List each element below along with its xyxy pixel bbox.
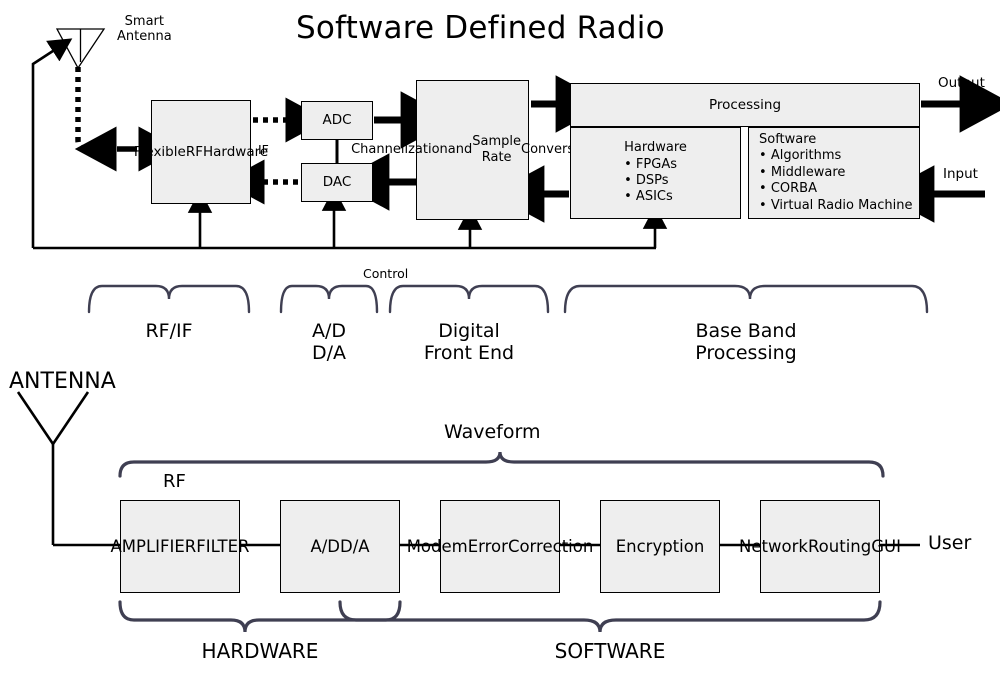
software-item-0: • Algorithms (759, 148, 913, 164)
rf-label: RF (163, 471, 186, 492)
top-brace-group (89, 286, 927, 312)
hardware-item-0: • FPGAs (624, 157, 687, 173)
brace-software (340, 602, 880, 632)
control-bus-line (33, 207, 656, 248)
brace-waveform (120, 452, 883, 476)
brace-label-ad-da: A/DD/A (281, 320, 377, 365)
page-title: Software Defined Radio (296, 10, 665, 47)
software-title: Software (759, 132, 913, 148)
software-item-3: • Virtual Radio Machine (759, 198, 913, 214)
brace-rf-if (89, 286, 249, 312)
smart-antenna-label: SmartAntenna (117, 14, 172, 45)
box-processing[interactable]: Processing (570, 83, 920, 127)
box-flexible-rf-hardware[interactable]: FlexibleRFHardware (151, 100, 251, 204)
brace-digital-front-end (390, 286, 548, 312)
box-adc[interactable]: ADC (301, 101, 373, 140)
control-label: Control (363, 267, 408, 282)
brace-label-rf-if: RF/IF (88, 320, 250, 342)
box-channelization[interactable]: ChannelizationandSample RateConversion (416, 80, 529, 220)
brace-base-band (565, 286, 927, 312)
antenna-feed-dashed-line (78, 67, 96, 149)
box-ad-da[interactable]: A/DD/A (280, 500, 400, 593)
brace-hardware (120, 602, 400, 632)
brace-label-base-band: Base BandProcessing (565, 320, 927, 365)
box-dac[interactable]: DAC (301, 163, 373, 202)
brace-label-digital-front-end: DigitalFront End (390, 320, 548, 365)
box-network-routing-gui[interactable]: NetworkRoutingGUI (760, 500, 880, 593)
hardware-item-2: • ASICs (624, 189, 687, 205)
box-encryption[interactable]: Encryption (600, 500, 720, 593)
output-label: Output (938, 76, 985, 92)
box-amplifier-filter[interactable]: AMPLIFIERFILTER (120, 500, 240, 593)
user-label: User (928, 532, 971, 554)
box-hardware[interactable]: Hardware • FPGAs • DSPs • ASICs (570, 127, 741, 219)
brace-ad-da (281, 286, 377, 312)
bottom-antenna-icon (18, 392, 88, 545)
hardware-content: Hardware • FPGAs • DSPs • ASICs (624, 140, 687, 206)
hardware-title: Hardware (624, 140, 687, 156)
software-content: Software • Algorithms • Middleware • COR… (759, 132, 913, 214)
bottom-antenna-label: ANTENNA (9, 369, 116, 395)
diagram-canvas: Software Defined Radio SmartAntenna IF C… (0, 0, 1000, 700)
brace-label-software: SOFTWARE (340, 640, 880, 664)
software-item-2: • CORBA (759, 181, 913, 197)
box-modem-error-correction[interactable]: ModemErrorCorrection (440, 500, 560, 593)
waveform-label: Waveform (444, 421, 540, 443)
box-software[interactable]: Software • Algorithms • Middleware • COR… (748, 127, 920, 219)
software-item-1: • Middleware (759, 165, 913, 181)
hardware-item-1: • DSPs (624, 173, 687, 189)
antenna-control-feedback-line (33, 49, 56, 248)
smart-antenna-icon (57, 29, 104, 68)
input-label: Input (943, 167, 978, 183)
